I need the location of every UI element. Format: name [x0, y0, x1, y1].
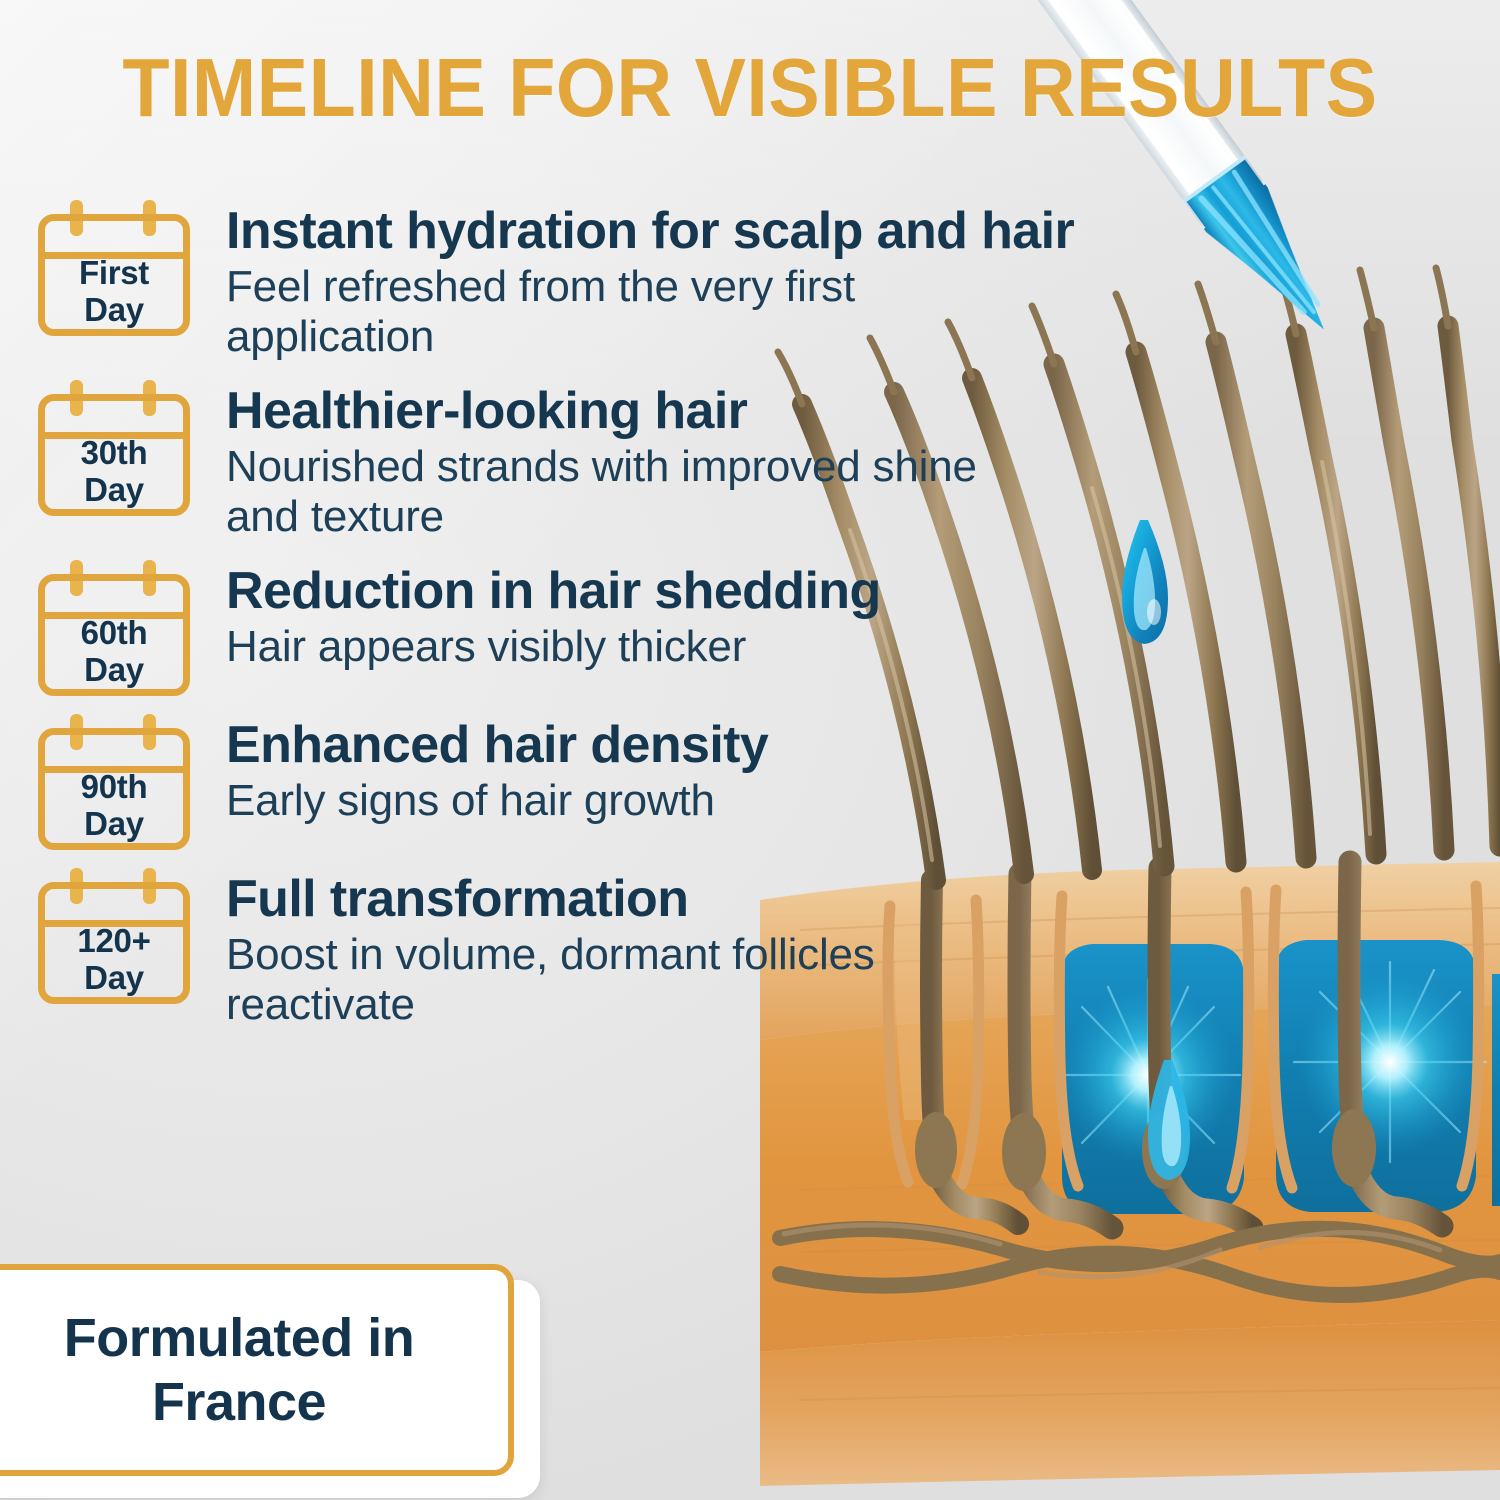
- calendar-label-line2: Day: [38, 959, 190, 996]
- timeline-text: Enhanced hair density Early signs of hai…: [190, 702, 1188, 826]
- badge-gold-frame: Formulated in France: [0, 1264, 514, 1476]
- calendar-label-line2: Day: [38, 805, 190, 842]
- timeline-text: Instant hydration for scalp and hair Fee…: [190, 188, 1188, 362]
- calendar-label: 30th Day: [38, 434, 190, 508]
- timeline-heading: Full transformation: [226, 870, 1188, 928]
- timeline-item: 90th Day Enhanced hair density Early sig…: [38, 702, 1188, 850]
- timeline-item: First Day Instant hydration for scalp an…: [38, 188, 1188, 362]
- calendar-label-line1: 60th: [38, 614, 190, 651]
- calendar-icon: First Day: [38, 200, 190, 336]
- calendar-icon: 120+ Day: [38, 868, 190, 1004]
- timeline-item: 120+ Day Full transformation Boost in vo…: [38, 856, 1188, 1030]
- calendar-label: 120+ Day: [38, 922, 190, 996]
- calendar-icon: 30th Day: [38, 380, 190, 516]
- badge-line-2: France: [64, 1370, 415, 1434]
- timeline-heading: Reduction in hair shedding: [226, 562, 1188, 620]
- page-title: TIMELINE FOR VISIBLE RESULTS: [53, 46, 1448, 129]
- calendar-label-line1: 120+: [38, 922, 190, 959]
- timeline-text: Healthier-looking hair Nourished strands…: [190, 368, 1188, 542]
- formulated-badge: Formulated in France: [0, 1264, 554, 1500]
- badge-text: Formulated in France: [64, 1306, 415, 1434]
- calendar-label-line1: 90th: [38, 768, 190, 805]
- calendar-label-line1: First: [38, 254, 190, 291]
- timeline-text: Full transformation Boost in volume, dor…: [190, 856, 1188, 1030]
- calendar-label-line2: Day: [38, 291, 190, 328]
- calendar-icon: 60th Day: [38, 560, 190, 696]
- calendar-label: First Day: [38, 254, 190, 328]
- timeline-item: 60th Day Reduction in hair shedding Hair…: [38, 548, 1188, 696]
- calendar-label: 90th Day: [38, 768, 190, 842]
- timeline-subtext: Hair appears visibly thicker: [226, 622, 1046, 672]
- timeline-item: 30th Day Healthier-looking hair Nourishe…: [38, 368, 1188, 542]
- badge-line-1: Formulated in: [64, 1306, 415, 1370]
- timeline-list: First Day Instant hydration for scalp an…: [38, 188, 1188, 1036]
- timeline-subtext: Nourished strands with improved shine an…: [226, 442, 1026, 542]
- timeline-heading: Enhanced hair density: [226, 716, 1188, 774]
- infographic-poster: TIMELINE FOR VISIBLE RESULTS First Day I…: [0, 0, 1500, 1500]
- timeline-subtext: Early signs of hair growth: [226, 776, 1046, 826]
- timeline-subtext: Feel refreshed from the very first appli…: [226, 262, 1046, 362]
- calendar-label-line2: Day: [38, 471, 190, 508]
- calendar-label-line1: 30th: [38, 434, 190, 471]
- timeline-heading: Instant hydration for scalp and hair: [226, 202, 1188, 260]
- calendar-label-line2: Day: [38, 651, 190, 688]
- calendar-label: 60th Day: [38, 614, 190, 688]
- timeline-subtext: Boost in volume, dormant follicles react…: [226, 930, 1026, 1030]
- timeline-text: Reduction in hair shedding Hair appears …: [190, 548, 1188, 672]
- calendar-icon: 90th Day: [38, 714, 190, 850]
- timeline-heading: Healthier-looking hair: [226, 382, 1188, 440]
